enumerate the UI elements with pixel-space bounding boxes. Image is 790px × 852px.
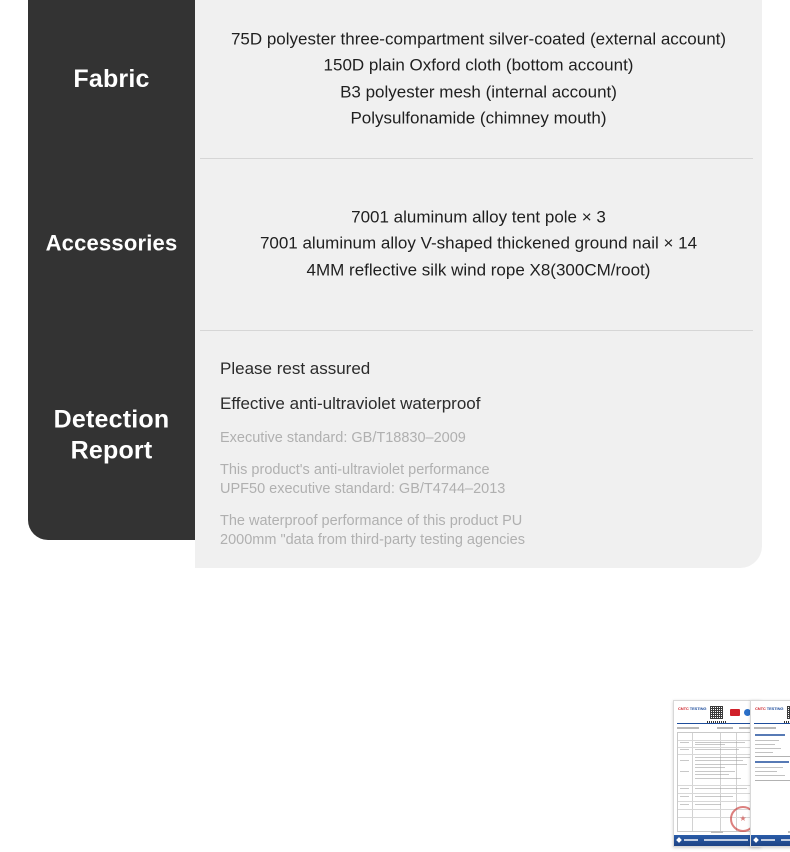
detection-note: Executive standard: GB/T18830–2009 xyxy=(220,429,650,449)
certificate-header: CNTC TESTING xyxy=(674,704,760,722)
spec-label-fabric-text: Fabric xyxy=(28,64,195,95)
accessories-line: 4MM reflective silk wind rope X8(300CM/r… xyxy=(209,257,748,283)
detection-note-group: This product's anti-ultraviolet performa… xyxy=(220,461,650,500)
spec-label-accessories: Accessories xyxy=(28,158,195,330)
product-spec-card: 75D polyester three-compartment silver-c… xyxy=(0,0,790,607)
certificate-title-row xyxy=(677,726,757,730)
row-divider xyxy=(200,330,753,331)
accessories-value-list: 7001 aluminum alloy tent pole × 3 7001 a… xyxy=(195,204,762,283)
spec-label-column: Fabric Accessories Detection Report xyxy=(28,0,195,540)
detection-report-body: Please rest assured Effective anti-ultra… xyxy=(195,330,762,568)
certificate-page: CNTC TESTING xyxy=(673,700,761,847)
spec-row-accessories: 7001 aluminum alloy tent pole × 3 7001 a… xyxy=(195,158,762,330)
spec-label-fabric: Fabric xyxy=(28,0,195,158)
certificate-page: CNTC TESTING xyxy=(750,700,790,847)
detection-subheading: Effective anti-ultraviolet waterproof xyxy=(220,394,650,414)
qr-code-icon xyxy=(710,706,723,719)
row-divider xyxy=(200,158,753,159)
spec-row-fabric: 75D polyester three-compartment silver-c… xyxy=(195,0,762,158)
detection-note: This product's anti-ultraviolet performa… xyxy=(220,461,650,481)
spec-label-detection-report-text: Detection Report xyxy=(28,405,195,466)
spec-label-detection-line1: Detection xyxy=(32,405,191,436)
detection-report-text: Please rest assured Effective anti-ultra… xyxy=(220,359,650,563)
detection-note: 2000mm "data from third-party testing ag… xyxy=(220,531,650,551)
certificate-page-number xyxy=(751,831,790,833)
spec-label-accessories-text: Accessories xyxy=(28,231,195,258)
detection-note-group: The waterproof performance of this produ… xyxy=(220,512,650,551)
cntc-logo-icon: CNTC TESTING xyxy=(678,707,706,712)
fabric-value-list: 75D polyester three-compartment silver-c… xyxy=(195,26,762,131)
detection-heading: Please rest assured xyxy=(220,359,650,379)
certificate-header-rule xyxy=(754,723,790,724)
certificate-footer xyxy=(751,835,790,846)
fabric-line: B3 polyester mesh (internal account) xyxy=(209,79,748,105)
certification-badge-icon xyxy=(730,709,740,716)
fabric-line: 150D plain Oxford cloth (bottom account) xyxy=(209,53,748,79)
fabric-line: 75D polyester three-compartment silver-c… xyxy=(209,26,748,52)
cntc-logo-icon: CNTC TESTING xyxy=(755,707,783,712)
accessories-line: 7001 aluminum alloy tent pole × 3 xyxy=(209,204,748,230)
spec-label-detection-report: Detection Report xyxy=(28,330,195,540)
certificate-footer xyxy=(674,835,760,846)
certificate-header: CNTC TESTING xyxy=(751,704,790,722)
accessories-line: 7001 aluminum alloy V-shaped thickened g… xyxy=(209,231,748,257)
spec-row-detection-report: Please rest assured Effective anti-ultra… xyxy=(195,330,762,568)
certificate-header-rule xyxy=(677,723,757,724)
detection-report-certificate-image: Three overlapping CNTC textile test repo… xyxy=(673,700,790,852)
certificate-page-number xyxy=(674,831,760,833)
fabric-line: Polysulfonamide (chimney mouth) xyxy=(209,105,748,131)
certificate-title-row xyxy=(754,726,790,730)
detection-note: The waterproof performance of this produ… xyxy=(220,512,650,532)
detection-note: UPF50 executive standard: GB/T4744–2013 xyxy=(220,480,650,500)
spec-label-detection-line2: Report xyxy=(32,435,191,466)
